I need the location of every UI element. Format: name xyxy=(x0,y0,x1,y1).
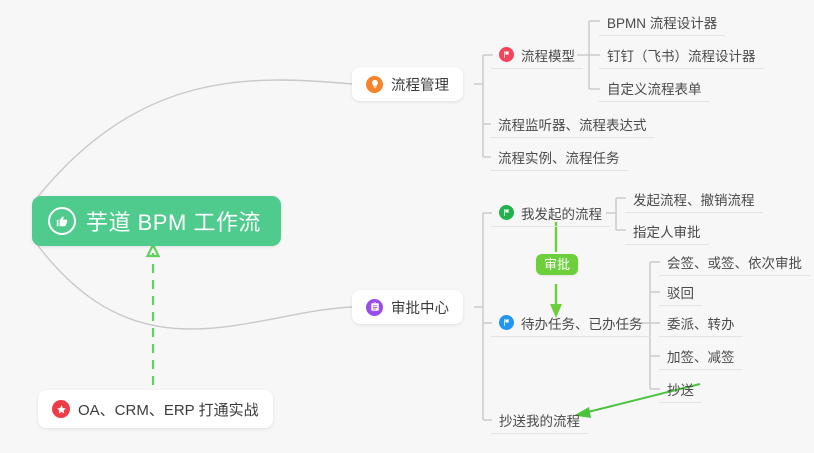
node-delegate-transfer[interactable]: 委派、转办 xyxy=(659,309,743,337)
node-shenpi-zhongxin-label: 审批中心 xyxy=(391,297,449,318)
node-dingtalk-feishu-designer[interactable]: 钉钉（飞书）流程设计器 xyxy=(599,41,764,69)
arrow-oa-to-root xyxy=(148,245,159,385)
root-node[interactable]: 芋道 BPM 工作流 xyxy=(32,196,281,246)
node-start-cancel-label: 发起流程、撤销流程 xyxy=(633,189,755,209)
clipboard-icon xyxy=(366,299,383,316)
node-bpmn-designer[interactable]: BPMN 流程设计器 xyxy=(599,8,725,36)
mindmap-canvas: 芋道 BPM 工作流 流程管理 流程模型 BPMN 流程设计器 钉钉（飞书）流程… xyxy=(0,0,814,453)
node-custom-process-form[interactable]: 自定义流程表单 xyxy=(599,74,710,102)
node-cc-label: 抄送 xyxy=(667,379,694,399)
node-instance-task-label: 流程实例、流程任务 xyxy=(498,147,620,167)
node-reject[interactable]: 驳回 xyxy=(659,278,702,306)
star-icon xyxy=(52,400,70,418)
lightbulb-icon xyxy=(366,76,383,93)
node-oa-crm-erp[interactable]: OA、CRM、ERP 打通实战 xyxy=(38,390,273,428)
flag-icon xyxy=(499,315,514,330)
node-bpmn-designer-label: BPMN 流程设计器 xyxy=(607,12,717,32)
node-instance-task[interactable]: 流程实例、流程任务 xyxy=(490,143,628,171)
node-cc[interactable]: 抄送 xyxy=(659,375,702,403)
node-add-remove-sign[interactable]: 加签、减签 xyxy=(659,342,743,370)
node-cc-to-me-label: 抄送我的流程 xyxy=(499,410,580,430)
node-start-cancel[interactable]: 发起流程、撤销流程 xyxy=(625,185,763,213)
node-oa-crm-erp-label: OA、CRM、ERP 打通实战 xyxy=(78,399,259,420)
node-todo-done-label: 待办任务、已办任务 xyxy=(521,313,643,333)
node-custom-process-form-label: 自定义流程表单 xyxy=(607,78,702,98)
node-dingtalk-feishu-designer-label: 钉钉（飞书）流程设计器 xyxy=(607,45,756,65)
root-label: 芋道 BPM 工作流 xyxy=(86,205,261,237)
node-reject-label: 驳回 xyxy=(667,282,694,302)
node-liucheng-moxing[interactable]: 流程模型 xyxy=(491,41,583,69)
thumbs-up-icon xyxy=(48,207,76,235)
node-assignee-approve-label: 指定人审批 xyxy=(633,221,701,241)
node-liucheng-moxing-label: 流程模型 xyxy=(521,45,575,65)
link-root-to-liucheng-guanli xyxy=(36,80,352,199)
node-my-started[interactable]: 我发起的流程 xyxy=(491,199,610,227)
node-assignee-approve[interactable]: 指定人审批 xyxy=(625,217,709,245)
node-delegate-transfer-label: 委派、转办 xyxy=(667,313,735,333)
node-my-started-label: 我发起的流程 xyxy=(521,203,602,223)
approve-badge: 审批 xyxy=(536,254,578,275)
flag-icon xyxy=(499,47,514,62)
node-listener-expression-label: 流程监听器、流程表达式 xyxy=(498,114,647,134)
node-cc-to-me[interactable]: 抄送我的流程 xyxy=(491,406,588,434)
node-add-remove-sign-label: 加签、减签 xyxy=(667,346,735,366)
node-shenpi-zhongxin[interactable]: 审批中心 xyxy=(352,290,463,324)
node-liucheng-guanli-label: 流程管理 xyxy=(391,74,449,95)
flag-icon xyxy=(499,205,514,220)
node-liucheng-guanli[interactable]: 流程管理 xyxy=(352,67,463,101)
node-todo-done[interactable]: 待办任务、已办任务 xyxy=(491,309,651,337)
node-countersign[interactable]: 会签、或签、依次审批 xyxy=(659,248,810,276)
node-countersign-label: 会签、或签、依次审批 xyxy=(667,252,802,272)
node-listener-expression[interactable]: 流程监听器、流程表达式 xyxy=(490,110,655,138)
link-root-to-shenpi-zhongxin xyxy=(36,243,352,329)
